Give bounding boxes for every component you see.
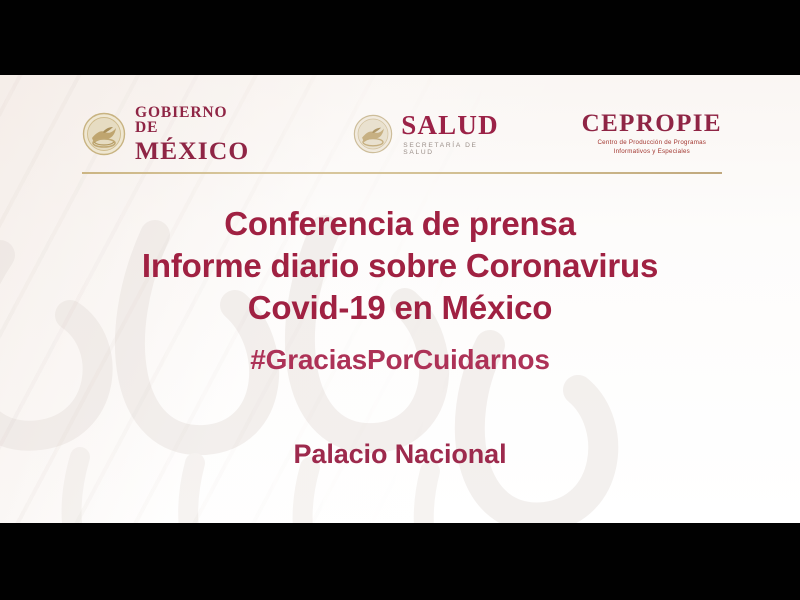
salud-line-2: SECRETARÍA DE SALUD xyxy=(401,143,499,156)
logo-cepropie: CEPROPIE Centro de Producción de Program… xyxy=(582,111,722,157)
gold-divider-rule xyxy=(82,172,722,174)
mexican-eagle-seal-icon xyxy=(82,112,126,156)
hashtag-text: #GraciasPorCuidarnos xyxy=(0,343,800,377)
logo-band: GOBIERNO DE MÉXICO SALUD SE xyxy=(82,103,722,165)
letterbox-top xyxy=(0,0,800,75)
video-player-frame: GOBIERNO DE MÉXICO SALUD SE xyxy=(0,0,800,600)
title-line-3: Covid-19 en México xyxy=(0,287,800,329)
presentation-slide: GOBIERNO DE MÉXICO SALUD SE xyxy=(0,75,800,523)
cepropie-line-1: CEPROPIE xyxy=(582,111,722,136)
salud-wordmark: SALUD SECRETARÍA DE SALUD xyxy=(401,112,499,156)
gobierno-line-1: GOBIERNO DE xyxy=(135,105,249,136)
slide-title-area: Conferencia de prensa Informe diario sob… xyxy=(0,203,800,471)
cepropie-line-2: Centro de Producción de Programas Inform… xyxy=(582,139,722,157)
gobierno-line-2: MÉXICO xyxy=(135,138,249,164)
mexican-eagle-seal-icon xyxy=(353,114,393,154)
letterbox-bottom xyxy=(0,523,800,600)
venue-text: Palacio Nacional xyxy=(0,437,800,471)
title-line-2: Informe diario sobre Coronavirus xyxy=(0,245,800,287)
cepropie-wordmark: CEPROPIE Centro de Producción de Program… xyxy=(582,111,722,157)
title-line-1: Conferencia de prensa xyxy=(0,203,800,245)
logo-gobierno-de-mexico: GOBIERNO DE MÉXICO xyxy=(82,105,249,164)
salud-line-1: SALUD xyxy=(401,112,499,139)
slide-content: GOBIERNO DE MÉXICO SALUD SE xyxy=(0,75,800,523)
logo-salud: SALUD SECRETARÍA DE SALUD xyxy=(353,112,499,156)
gobierno-wordmark: GOBIERNO DE MÉXICO xyxy=(135,105,249,164)
